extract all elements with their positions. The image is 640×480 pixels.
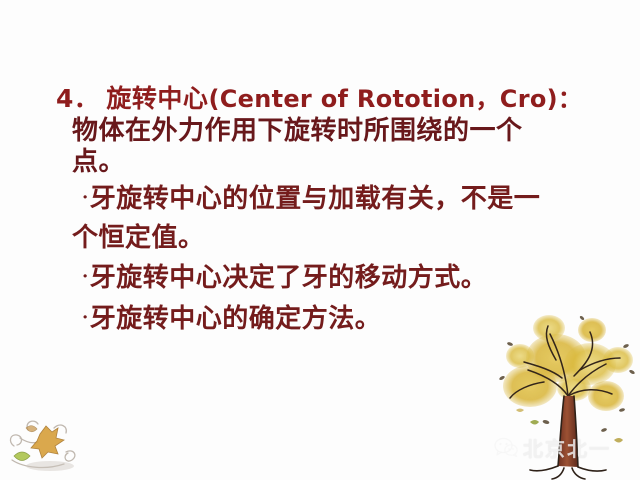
title-latin: (Center of Rototion，Cro)：: [208, 85, 582, 113]
bullet-item-1-continuation: 个恒定值。: [0, 219, 640, 257]
title-chinese: 旋转中心: [106, 84, 208, 113]
tree-falling-leaves: [516, 409, 623, 443]
tree-roots: [530, 396, 606, 479]
ornament-leaves: [14, 426, 64, 461]
bullet-marker-icon: ·: [82, 187, 89, 208]
bullet-item-2: ·牙旋转中心决定了牙的移动方式。: [0, 257, 640, 298]
bullet-item-3-text: 牙旋转中心的确定方法。: [90, 304, 382, 334]
ornament-shadow: [26, 461, 74, 471]
presentation-slide: 4．旋转中心(Center of Rototion，Cro)： 物体在外力作用下…: [0, 0, 640, 480]
bullet-marker-icon: ·: [82, 307, 89, 328]
title-number: 4: [56, 84, 74, 113]
ornament-swirls: [10, 421, 74, 467]
autumn-leaves-corner-ornament: [6, 412, 90, 474]
tree-trunk: [558, 396, 578, 467]
body-line-2: 点。: [0, 147, 640, 178]
wechat-watermark: 北京北一: [494, 432, 624, 462]
slide-text-block: 4．旋转中心(Center of Rototion，Cro)： 物体在外力作用下…: [0, 82, 640, 339]
slide-title: 4．旋转中心(Center of Rototion，Cro)：: [0, 82, 640, 116]
tree-branches: [510, 326, 620, 458]
watermark-text: 北京北一: [523, 433, 611, 462]
bullet-item-3: ·牙旋转中心的确定方法。: [0, 298, 640, 339]
wechat-logo-icon: [494, 437, 518, 457]
body-line-1: 物体在外力作用下旋转时所围绕的一个: [0, 116, 640, 147]
title-number-separator: ．: [74, 84, 100, 113]
bullet-marker-icon: ·: [82, 266, 89, 287]
bullet-item-1: ·牙旋转中心的位置与加载有关，不是一: [0, 178, 640, 219]
bullet-item-1-text: 牙旋转中心的位置与加载有关，不是一: [90, 184, 541, 214]
bullet-item-2-text: 牙旋转中心决定了牙的移动方式。: [90, 263, 488, 293]
